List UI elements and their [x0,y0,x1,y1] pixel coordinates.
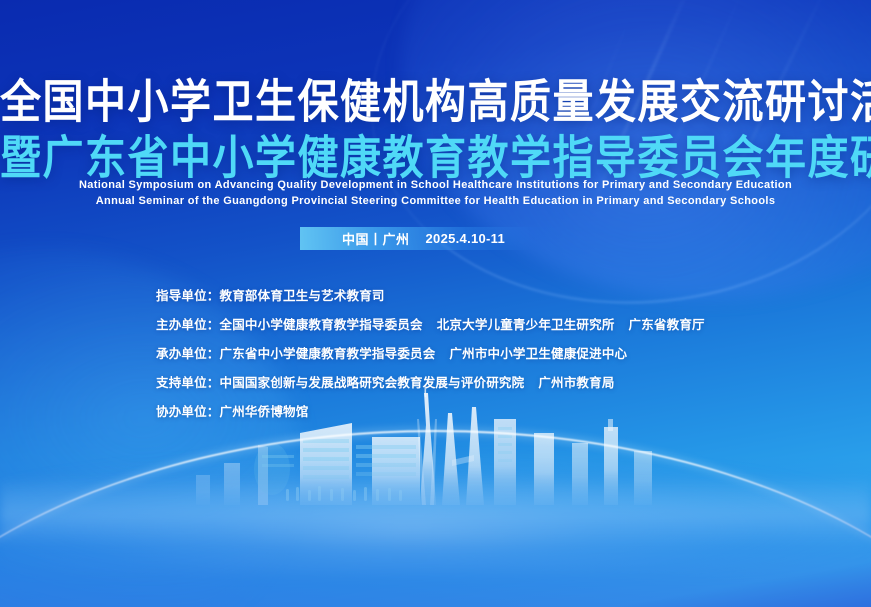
event-dates: 2025.4.10-11 [426,231,506,246]
organizer-name: 广州华侨博物馆 [220,404,309,420]
subtitle-line-1: National Symposium on Advancing Quality … [0,177,871,193]
poster-subtitle: National Symposium on Advancing Quality … [0,177,871,209]
organizer-name: 广东省中小学健康教育教学指导委员会 [220,346,436,362]
title-line-primary: 全国中小学卫生保健机构高质量发展交流研讨活动 [0,74,871,130]
organizer-label: 承办单位： [156,346,220,362]
subtitle-line-2: Annual Seminar of the Guangdong Provinci… [0,193,871,209]
organizer-name: 中国国家创新与发展战略研究会教育发展与评价研究院 [220,375,525,391]
poster-content: 全国中小学卫生保健机构高质量发展交流研讨活动 暨广东省中小学健康教育教学指导委员… [0,0,871,607]
organizer-name: 全国中小学健康教育教学指导委员会 [220,317,423,333]
organizer-values: 全国中小学健康教育教学指导委员会北京大学儿童青少年卫生研究所广东省教育厅 [220,317,705,333]
organizer-label: 主办单位： [156,317,220,333]
organizer-row: 支持单位：中国国家创新与发展战略研究会教育发展与评价研究院广州市教育局 [156,375,705,391]
organizer-name: 广东省教育厅 [629,317,705,333]
poster-title: 全国中小学卫生保健机构高质量发展交流研讨活动 暨广东省中小学健康教育教学指导委员… [0,74,871,180]
organizer-label: 支持单位： [156,375,220,391]
organizer-values: 广州华侨博物馆 [220,404,309,420]
organizer-row: 指导单位：教育部体育卫生与艺术教育司 [156,288,705,304]
organizer-name: 广州市中小学卫生健康促进中心 [449,346,627,362]
organizer-name: 广州市教育局 [538,375,614,391]
organizer-label: 协办单位： [156,404,220,420]
event-location-date-banner: 中国丨广州 2025.4.10-11 [300,227,565,250]
organizer-row: 协办单位：广州华侨博物馆 [156,404,705,420]
conference-poster: 全国中小学卫生保健机构高质量发展交流研讨活动 暨广东省中小学健康教育教学指导委员… [0,0,871,607]
organizer-values: 中国国家创新与发展战略研究会教育发展与评价研究院广州市教育局 [220,375,615,391]
organizer-row: 承办单位：广东省中小学健康教育教学指导委员会广州市中小学卫生健康促进中心 [156,346,705,362]
organizer-label: 指导单位： [156,288,220,304]
event-location: 中国丨广州 [342,229,410,248]
organizer-row: 主办单位：全国中小学健康教育教学指导委员会北京大学儿童青少年卫生研究所广东省教育… [156,317,705,333]
organizer-name: 教育部体育卫生与艺术教育司 [220,288,385,304]
organizer-values: 广东省中小学健康教育教学指导委员会广州市中小学卫生健康促进中心 [220,346,628,362]
organizer-values: 教育部体育卫生与艺术教育司 [220,288,385,304]
organizer-name: 北京大学儿童青少年卫生研究所 [437,317,615,333]
organizer-list: 指导单位：教育部体育卫生与艺术教育司主办单位：全国中小学健康教育教学指导委员会北… [156,288,705,433]
